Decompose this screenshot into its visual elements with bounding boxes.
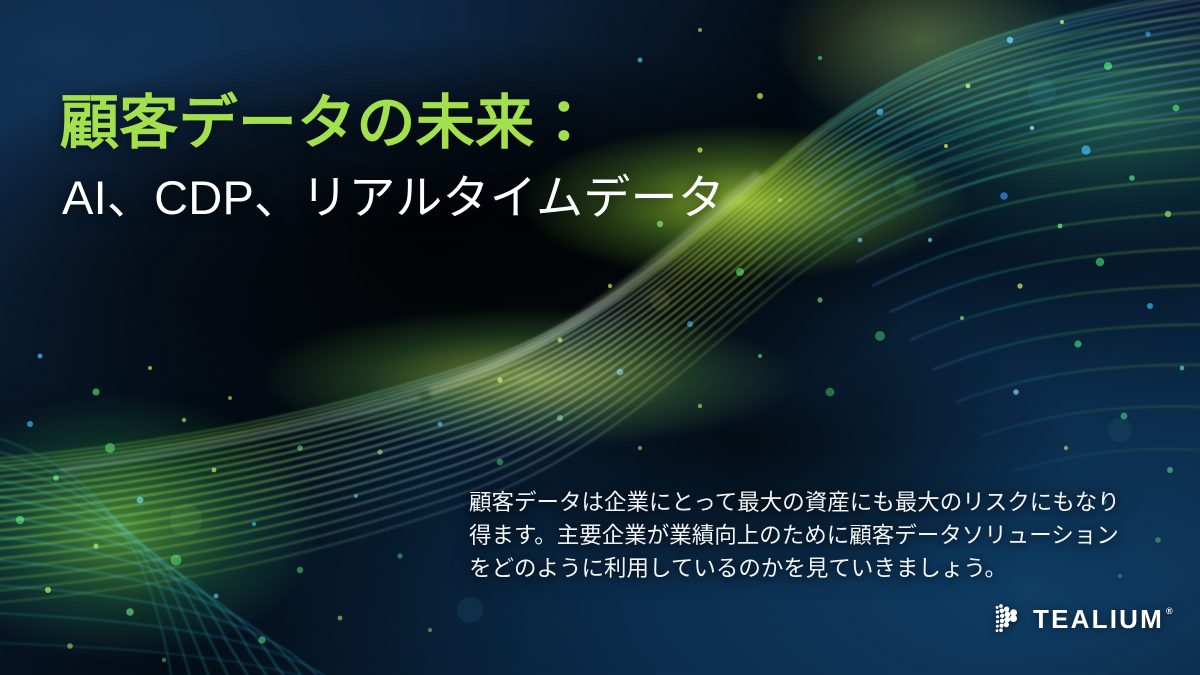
headline-secondary: AI、CDP、リアルタイムデータ [62,172,820,225]
headline-block: 顧客データの未来： AI、CDP、リアルタイムデータ [60,92,820,224]
tealium-wordmark: TEALIUM ® [1033,606,1173,632]
body-paragraph: 顧客データは企業にとって最大の資産にも最大のリスクにもなり 得ます。主要企業が業… [469,486,1075,585]
body-line-1: 顧客データは企業にとって最大の資産にも最大のリスクにもなり [469,486,1075,519]
tealium-logo: TEALIUM ® [994,603,1173,635]
tealium-trademark-symbol: ® [1166,607,1173,616]
body-line-3: をどのように利用しているのかを見ていきましょう。 [469,552,1075,585]
body-line-2: 得ます。主要企業が業績向上のために顧客データソリューション [469,519,1075,552]
tealium-wordmark-text: TEALIUM [1033,606,1164,632]
headline-primary: 顧客データの未来： [60,92,820,156]
slide-canvas: 顧客データの未来： AI、CDP、リアルタイムデータ 顧客データは企業にとって最… [0,0,1200,675]
tealium-dots-icon [994,603,1024,635]
